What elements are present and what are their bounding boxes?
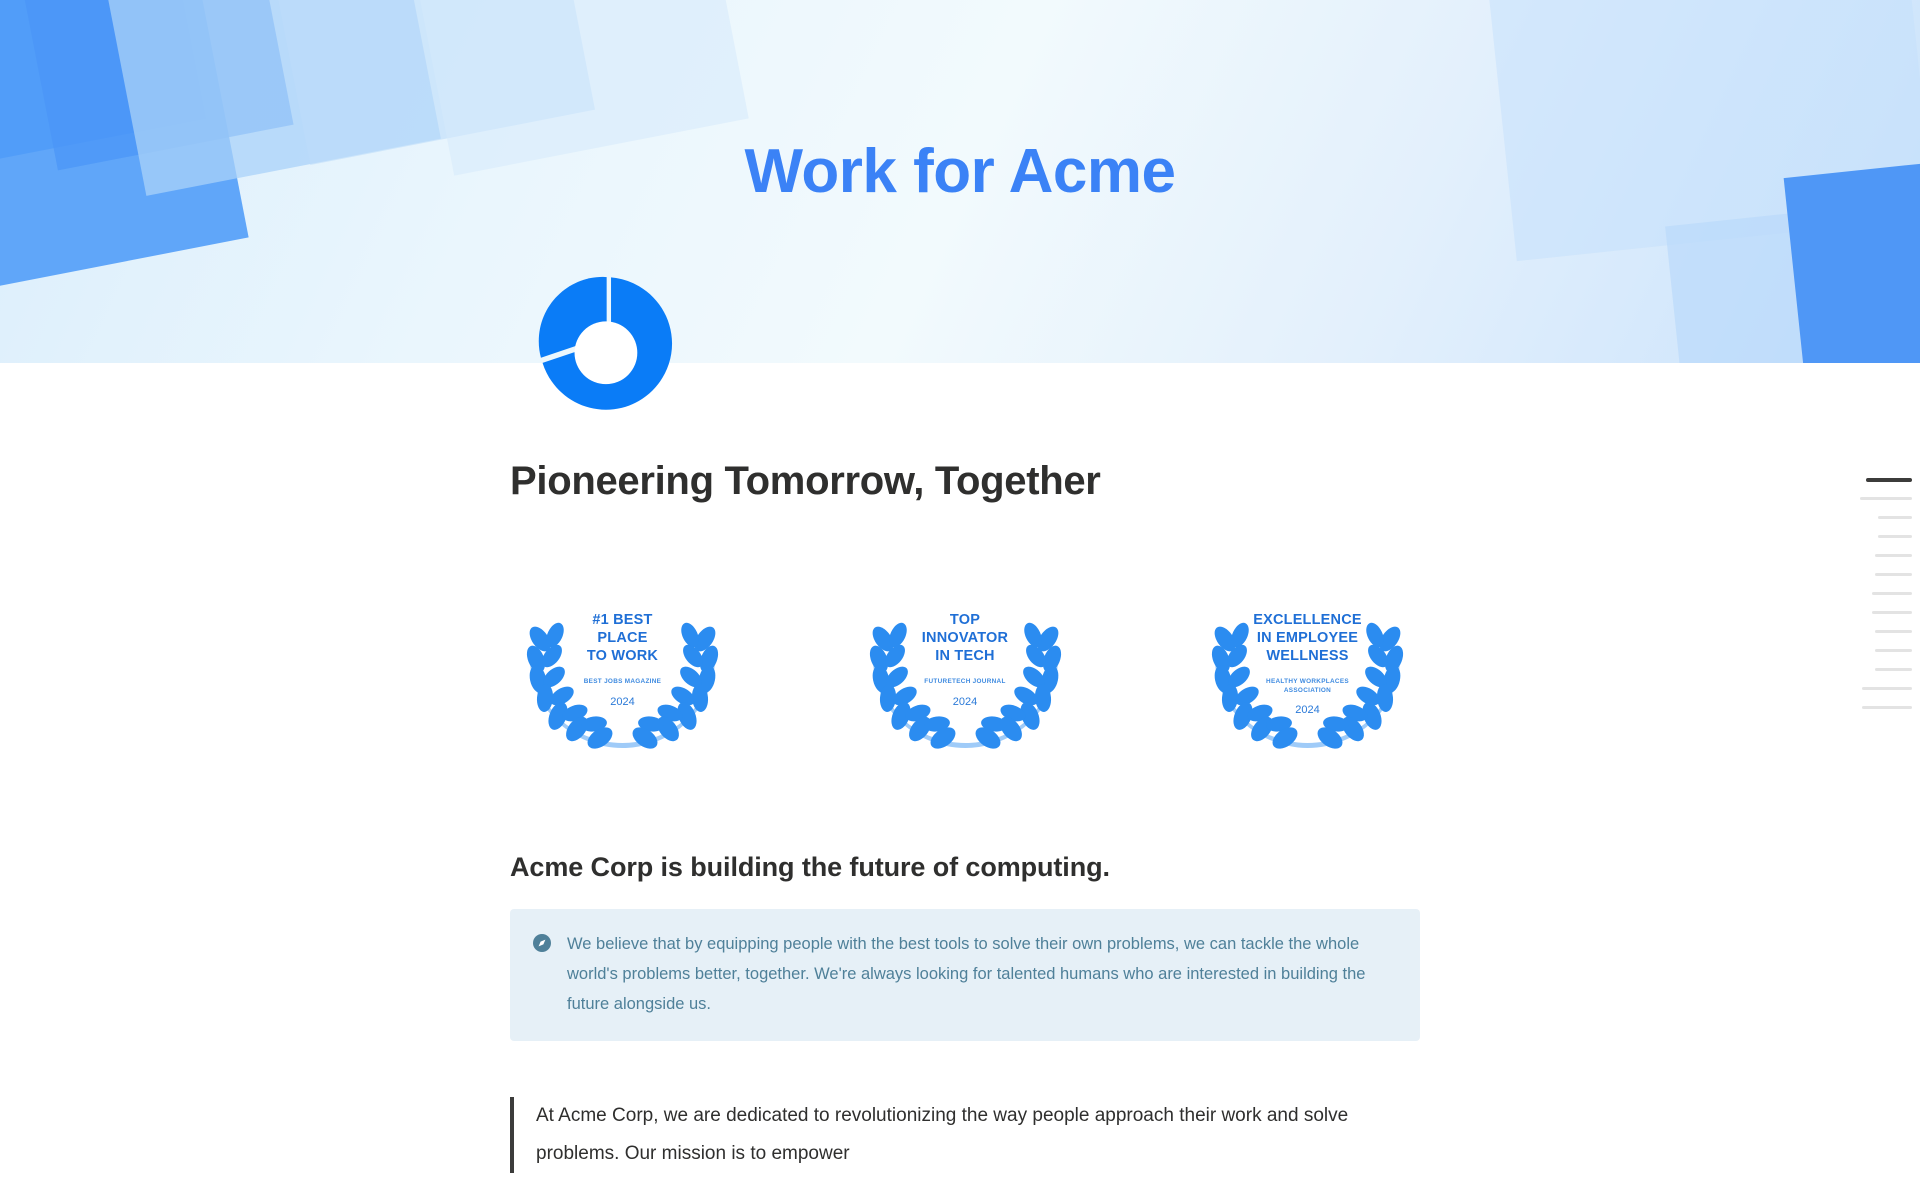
mission-callout: We believe that by equipping people with… [510,909,1420,1041]
award-title-line: PLACE [510,629,735,647]
award-badge: EXCLELLENCE IN EMPLOYEE WELLNESS HEALTHY… [1195,583,1420,753]
award-source: FUTURETECH JOURNAL [853,678,1078,686]
award-badge: #1 BEST PLACE TO WORK BEST JOBS MAGAZINE… [510,583,735,753]
outline-item[interactable] [1840,508,1912,527]
outline-item-bar [1860,497,1912,500]
outline-item[interactable] [1840,546,1912,565]
mission-blockquote: At Acme Corp, we are dedicated to revolu… [510,1097,1420,1173]
award-title-line: IN EMPLOYEE [1195,629,1420,647]
outline-item[interactable] [1840,527,1912,546]
document-outline-minimap[interactable] [1840,470,1920,717]
award-badge-text: TOP INNOVATOR IN TECH FUTURETECH JOURNAL… [853,611,1078,708]
outline-item-bar [1862,687,1912,690]
award-title-line: TO WORK [510,647,735,665]
award-source: HEALTHY WORKPLACES ASSOCIATION [1195,678,1420,695]
outline-item[interactable] [1840,622,1912,641]
page-root: Work for Acme Pioneering Tomorrow, Toget… [0,0,1920,1199]
page-title: Work for Acme [0,136,1920,207]
main-heading: Pioneering Tomorrow, Together [510,457,1420,505]
outline-item[interactable] [1840,603,1912,622]
award-year: 2024 [510,696,735,708]
outline-item[interactable] [1840,489,1912,508]
award-badge: TOP INNOVATOR IN TECH FUTURETECH JOURNAL… [853,583,1078,753]
outline-item[interactable] [1840,565,1912,584]
award-title-line: IN TECH [853,647,1078,665]
outline-item-bar [1878,516,1912,519]
outline-item-bar [1878,535,1912,538]
outline-item[interactable] [1840,584,1912,603]
outline-item-bar [1875,573,1912,576]
outline-item[interactable] [1840,470,1912,489]
hero-banner: Work for Acme [0,0,1920,363]
acme-swirl-logo-icon [530,271,676,417]
document-body: Pioneering Tomorrow, Together [510,363,1420,1173]
award-title-line: WELLNESS [1195,647,1420,665]
mission-callout-text: We believe that by equipping people with… [567,929,1394,1019]
award-title-line: INNOVATOR [853,629,1078,647]
outline-item-bar [1872,592,1912,595]
outline-item-bar [1872,611,1912,614]
award-source-line: HEALTHY WORKPLACES [1195,678,1420,686]
outline-item-bar [1875,649,1912,652]
outline-item-bar [1875,554,1912,557]
award-badge-text: EXCLELLENCE IN EMPLOYEE WELLNESS HEALTHY… [1195,611,1420,716]
mission-blockquote-text: At Acme Corp, we are dedicated to revolu… [536,1097,1420,1173]
outline-item[interactable] [1840,698,1912,717]
award-badge-text: #1 BEST PLACE TO WORK BEST JOBS MAGAZINE… [510,611,735,708]
outline-item-bar [1862,706,1912,709]
award-title-line: EXCLELLENCE [1195,611,1420,629]
compass-icon [532,933,552,953]
award-title-line: #1 BEST [510,611,735,629]
outline-item[interactable] [1840,660,1912,679]
outline-item[interactable] [1840,679,1912,698]
outline-item[interactable] [1840,641,1912,660]
award-year: 2024 [853,696,1078,708]
outline-item-bar [1875,630,1912,633]
award-title-line: TOP [853,611,1078,629]
award-year: 2024 [1195,704,1420,716]
outline-item-bar [1875,668,1912,671]
award-badge-row: #1 BEST PLACE TO WORK BEST JOBS MAGAZINE… [510,583,1420,753]
award-source-line: ASSOCIATION [1195,687,1420,695]
outline-item-bar [1866,478,1912,482]
award-source: BEST JOBS MAGAZINE [510,678,735,686]
section-heading: Acme Corp is building the future of comp… [510,852,1420,883]
